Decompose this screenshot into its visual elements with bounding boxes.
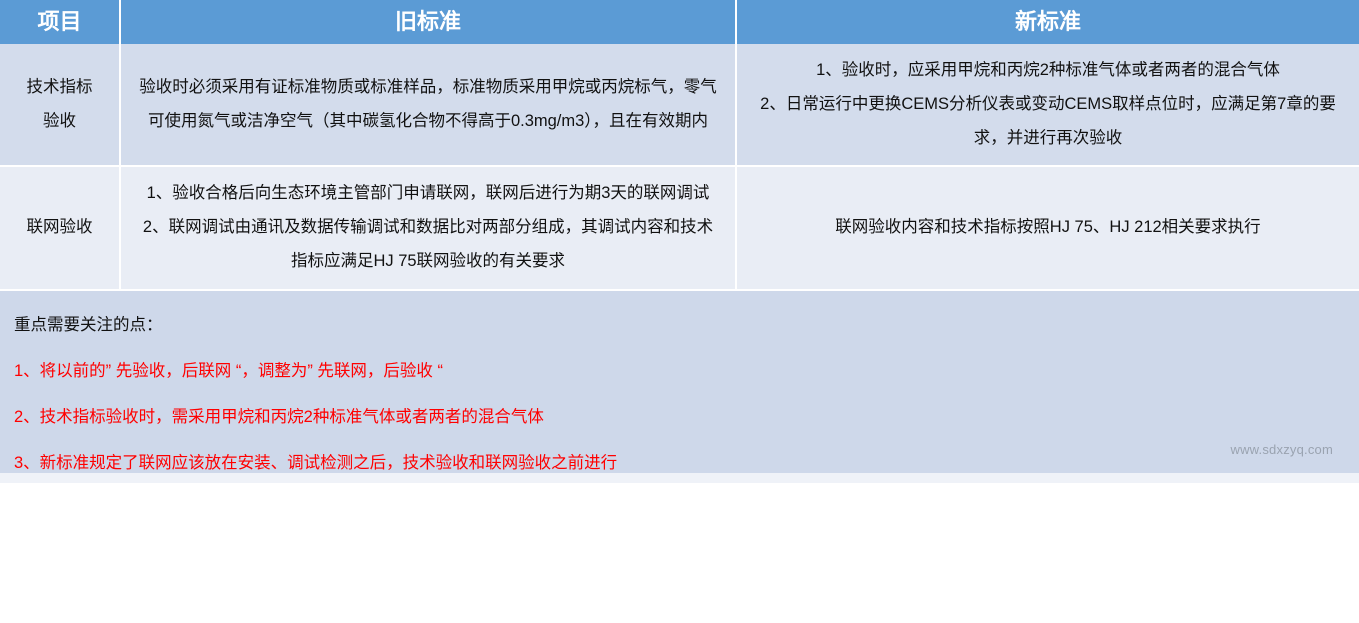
row-label-line-1: 技术指标 <box>14 71 105 105</box>
standards-comparison-table: 项目 旧标准 新标准 技术指标 验收 验收时必须采用有证标准物质或标准样品，标准… <box>0 0 1359 291</box>
cell-new-standard-network: 联网验收内容和技术指标按照HJ 75、HJ 212相关要求执行 <box>736 166 1359 289</box>
table-row: 联网验收 1、验收合格后向生态环境主管部门申请联网，联网后进行为期3天的联网调试… <box>0 166 1359 289</box>
cell-old-standard-network: 1、验收合格后向生态环境主管部门申请联网，联网后进行为期3天的联网调试 2、联网… <box>120 166 736 289</box>
table-header-row: 项目 旧标准 新标准 <box>0 0 1359 44</box>
column-header-new-standard: 新标准 <box>736 0 1359 44</box>
list-item: 2、联网调试由通讯及数据传输调试和数据比对两部分组成，其调试内容和技术指标应满足… <box>135 211 721 279</box>
cell-new-standard-technical: 1、验收时，应采用甲烷和丙烷2种标准气体或者两者的混合气体 2、日常运行中更换C… <box>736 44 1359 166</box>
row-label-line-2: 验收 <box>14 105 105 139</box>
bottom-edge-strip <box>0 473 1359 483</box>
key-point-item-1: 1、将以前的” 先验收，后联网 “，调整为” 先联网，后验收 “ <box>14 357 1345 381</box>
key-point-item-3: 3、新标准规定了联网应该放在安装、调试检测之后，技术验收和联网验收之前进行 <box>14 449 1345 473</box>
column-header-old-standard: 旧标准 <box>120 0 736 44</box>
row-label-technical-acceptance: 技术指标 验收 <box>0 44 120 166</box>
key-points-panel: 重点需要关注的点： 1、将以前的” 先验收，后联网 “，调整为” 先联网，后验收… <box>0 291 1359 483</box>
key-point-item-2: 2、技术指标验收时，需采用甲烷和丙烷2种标准气体或者两者的混合气体 <box>14 403 1345 427</box>
list-item: 2、日常运行中更换CEMS分析仪表或变动CEMS取样点位时，应满足第7章的要求，… <box>751 88 1345 156</box>
list-item: 1、验收合格后向生态环境主管部门申请联网，联网后进行为期3天的联网调试 <box>135 177 721 211</box>
comparison-slide: 项目 旧标准 新标准 技术指标 验收 验收时必须采用有证标准物质或标准样品，标准… <box>0 0 1359 623</box>
cell-old-standard-technical: 验收时必须采用有证标准物质或标准样品，标准物质采用甲烷或丙烷标气，零气可使用氮气… <box>120 44 736 166</box>
list-item: 1、验收时，应采用甲烷和丙烷2种标准气体或者两者的混合气体 <box>751 54 1345 88</box>
table-row: 技术指标 验收 验收时必须采用有证标准物质或标准样品，标准物质采用甲烷或丙烷标气… <box>0 44 1359 166</box>
key-points-heading: 重点需要关注的点： <box>14 311 1345 335</box>
site-watermark: www.sdxzyq.com <box>1231 442 1334 457</box>
column-header-item: 项目 <box>0 0 120 44</box>
row-label-network-acceptance: 联网验收 <box>0 166 120 289</box>
